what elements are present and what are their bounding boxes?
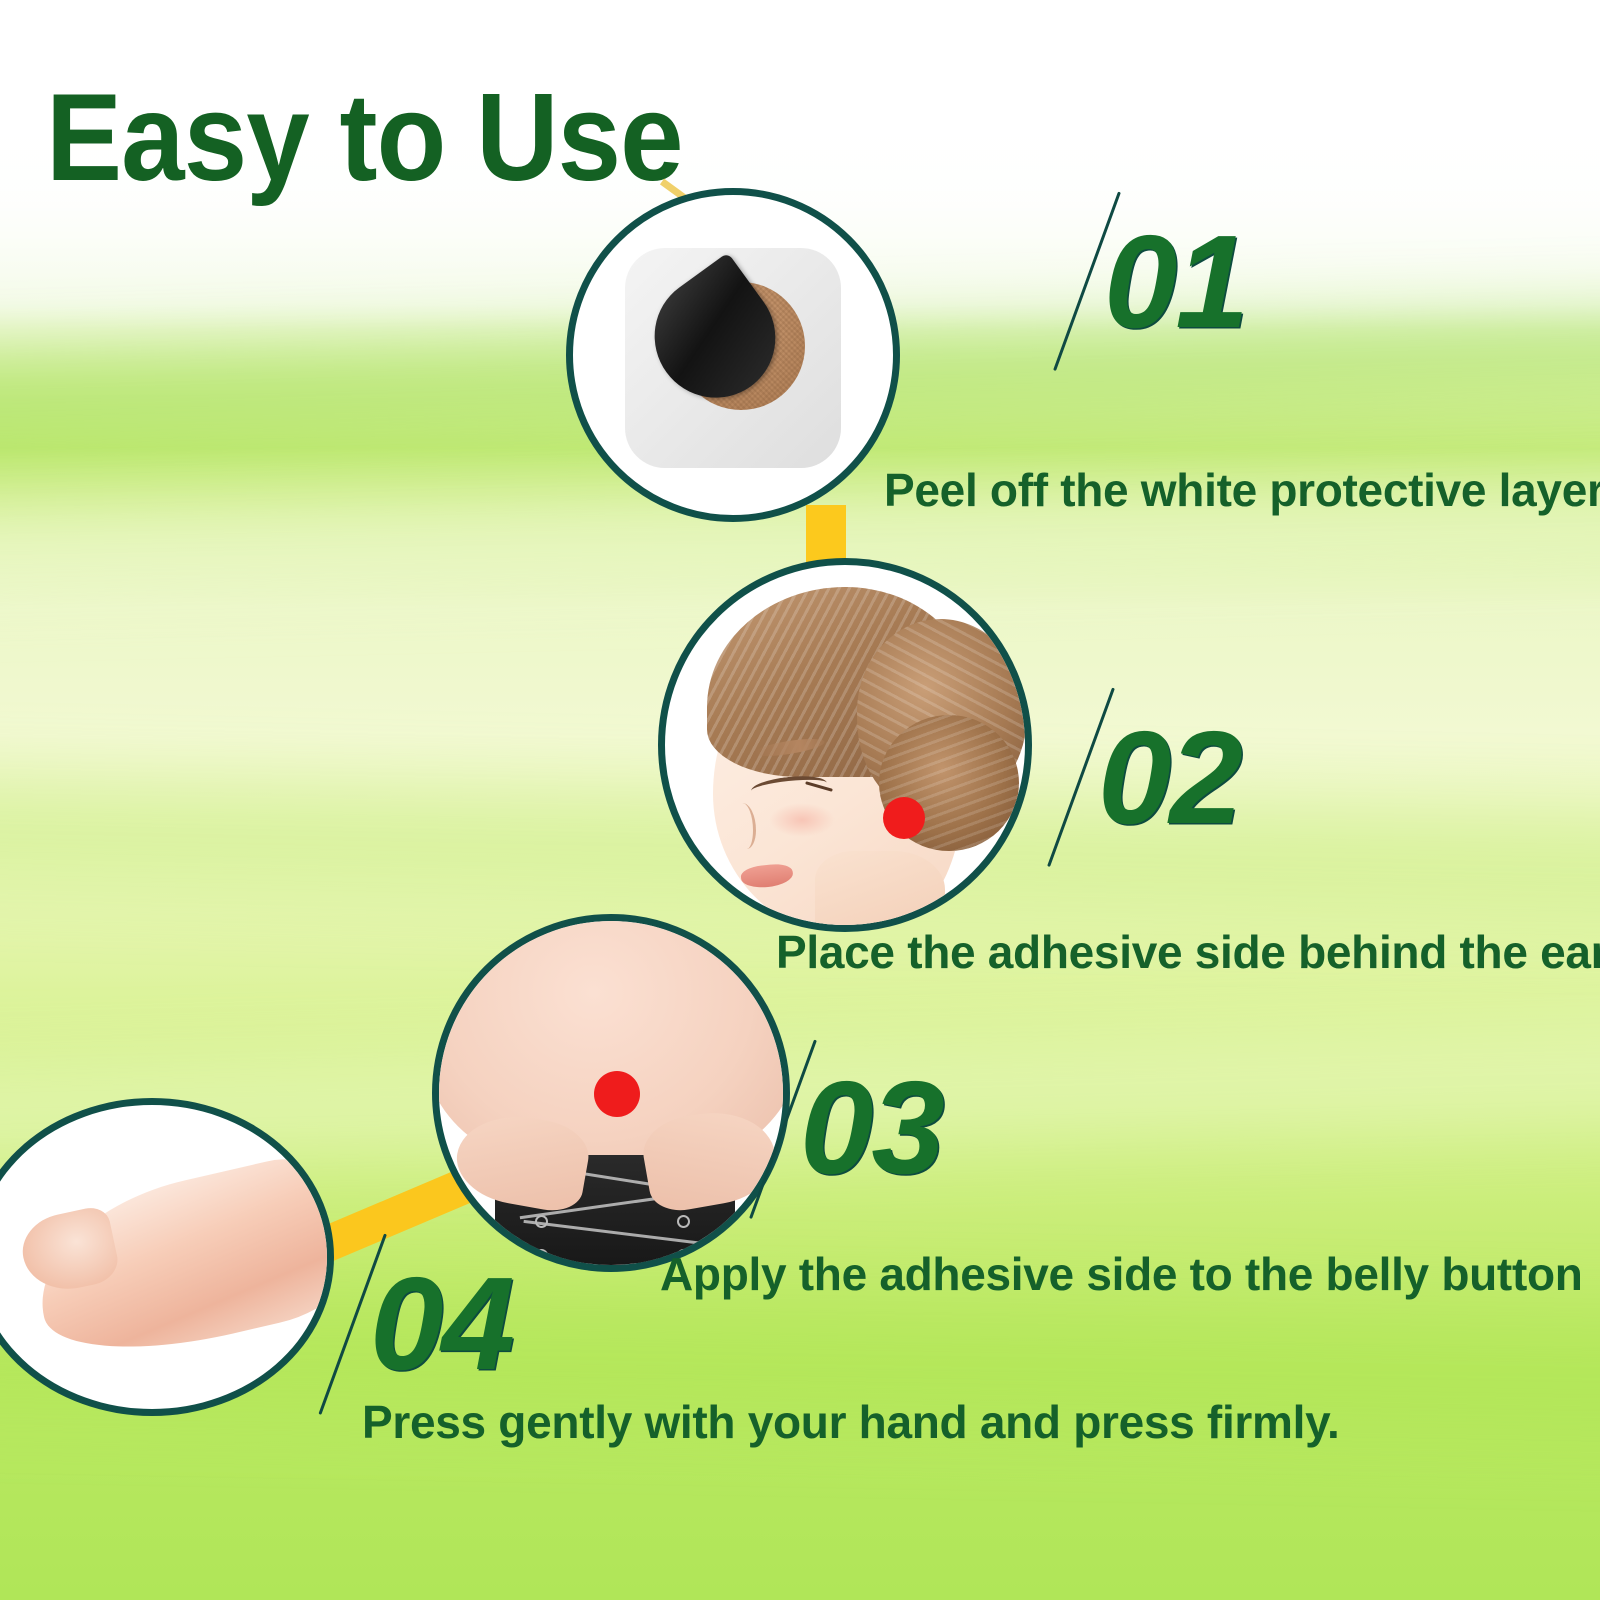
neck-shape [815,851,945,932]
step4-caption: Press gently with your hand and press fi… [362,1398,1339,1446]
patch-backing-card [625,248,841,468]
step1-number: 01 [1104,216,1247,348]
step3-number: 03 [800,1062,943,1194]
lace-eyelet [677,1215,690,1228]
red-patch-marker-on-navel [594,1071,640,1117]
step2-caption: Place the adhesive side behind the ear [776,928,1600,976]
step1-illustration-circle [566,188,900,522]
lace-eyelet [535,1249,548,1262]
red-patch-marker-behind-ear [883,797,925,839]
step2-number: 02 [1098,712,1241,844]
woman-profile-illustration [665,565,1025,925]
step3-caption: Apply the adhesive side to the belly but… [660,1250,1583,1298]
cheek-blush [769,803,835,837]
page-title: Easy to Use [46,76,683,200]
easy-to-use-infographic: Easy to Use [0,0,1600,1600]
step3-illustration-circle [432,914,790,1272]
step1-caption: Peel off the white protective layer [884,466,1600,514]
lace-eyelet [535,1215,548,1228]
step4-number: 04 [370,1258,513,1390]
step2-illustration-circle [658,558,1032,932]
